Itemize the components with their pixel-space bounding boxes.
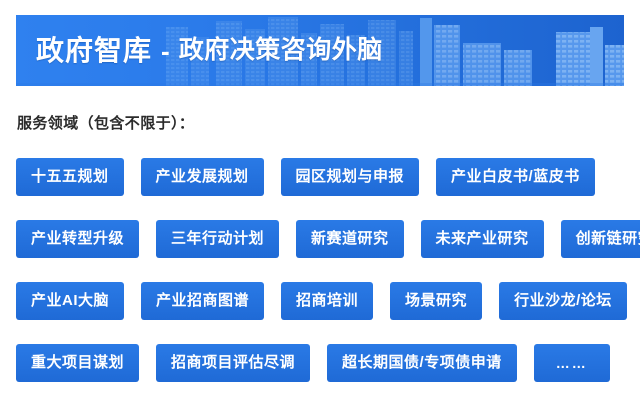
service-tag[interactable]: 产业白皮书/蓝皮书: [436, 158, 595, 196]
service-tag[interactable]: 产业发展规划: [141, 158, 264, 196]
service-tag[interactable]: 行业沙龙/论坛: [499, 282, 627, 320]
service-tag[interactable]: 产业招商图谱: [141, 282, 264, 320]
service-tag[interactable]: 超长期国债/专项债申请: [327, 344, 517, 382]
service-tag[interactable]: 重大项目谋划: [16, 344, 139, 382]
service-tag[interactable]: 园区规划与申报: [281, 158, 420, 196]
tag-row: 产业转型升级 三年行动计划 新赛道研究 未来产业研究 创新链研究: [16, 220, 632, 258]
banner-title-subtitle: 政府决策咨询外脑: [179, 38, 383, 63]
header-banner: 政府智库 - 政府决策咨询外脑: [16, 15, 624, 86]
service-tag-more[interactable]: ……: [534, 344, 610, 382]
service-tag-grid: 十五五规划 产业发展规划 园区规划与申报 产业白皮书/蓝皮书 产业转型升级 三年…: [16, 158, 632, 382]
service-tag[interactable]: 招商培训: [281, 282, 373, 320]
banner-title-separator: -: [152, 38, 179, 64]
service-tag[interactable]: 场景研究: [390, 282, 482, 320]
service-tag[interactable]: 产业AI大脑: [16, 282, 124, 320]
service-tag[interactable]: 创新链研究: [561, 220, 640, 258]
tag-row: 重大项目谋划 招商项目评估尽调 超长期国债/专项债申请 ……: [16, 344, 632, 382]
banner-title-main: 政府智库: [36, 37, 152, 65]
tag-row: 十五五规划 产业发展规划 园区规划与申报 产业白皮书/蓝皮书: [16, 158, 632, 196]
service-tag[interactable]: 十五五规划: [16, 158, 124, 196]
banner-title: 政府智库 - 政府决策咨询外脑: [36, 15, 383, 86]
service-tag[interactable]: 新赛道研究: [296, 220, 404, 258]
service-tag[interactable]: 三年行动计划: [156, 220, 279, 258]
service-tag[interactable]: 产业转型升级: [16, 220, 139, 258]
service-tag[interactable]: 招商项目评估尽调: [156, 344, 310, 382]
service-scope-label: 服务领域（包含不限于）：: [17, 112, 194, 133]
tag-row: 产业AI大脑 产业招商图谱 招商培训 场景研究 行业沙龙/论坛: [16, 282, 632, 320]
service-tag[interactable]: 未来产业研究: [421, 220, 544, 258]
